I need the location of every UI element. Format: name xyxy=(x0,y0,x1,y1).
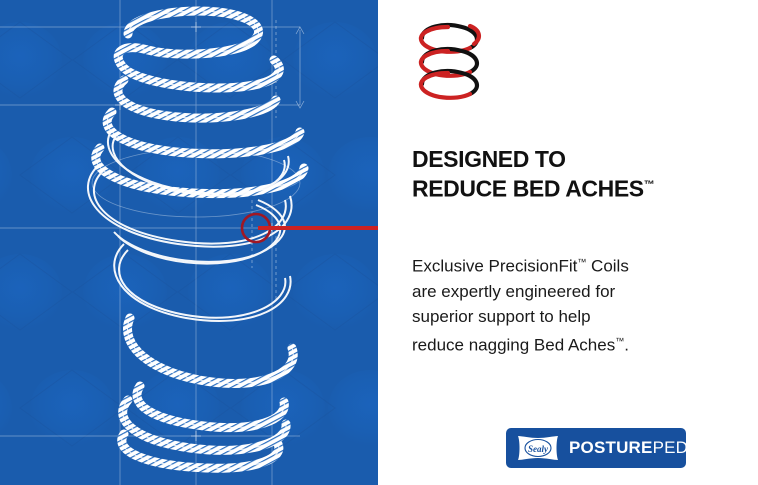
body-line-1-trademark: ™ xyxy=(577,257,586,267)
body-line-1-post: Coils xyxy=(586,257,629,276)
brand-registered: ® xyxy=(706,441,711,448)
blueprint-panel xyxy=(0,0,378,485)
brand-bold: POSTURE xyxy=(569,438,653,457)
sealy-wordmark: Sealy xyxy=(528,444,549,454)
headline-line-2: REDUCE BED ACHES™ xyxy=(412,172,742,202)
body-line-4: reduce nagging Bed Aches™. xyxy=(412,329,712,358)
red-circle-callout xyxy=(0,0,378,485)
body-copy: Exclusive PrecisionFit™ Coils are expert… xyxy=(412,250,712,357)
brand-logo-badge: Sealy POSTUREPEDIC® xyxy=(506,428,686,468)
body-line-2: are expertly engineered for xyxy=(412,279,712,304)
headline-line-2-text: REDUCE BED ACHES xyxy=(412,176,644,202)
headline-line-1: DESIGNED TO xyxy=(412,146,742,172)
body-line-4-trademark: ™ xyxy=(615,336,624,346)
coil-spring-icon xyxy=(408,18,496,100)
brand-light: PEDIC xyxy=(653,438,706,457)
sealy-logo-mark: Sealy xyxy=(515,435,561,461)
body-line-4-post: . xyxy=(624,335,629,354)
advertisement-banner: DESIGNED TO REDUCE BED ACHES™ Exclusive … xyxy=(0,0,758,485)
headline-trademark: ™ xyxy=(644,179,655,191)
content-panel: DESIGNED TO REDUCE BED ACHES™ Exclusive … xyxy=(378,0,758,485)
body-line-1-pre: Exclusive PrecisionFit xyxy=(412,257,577,276)
page-title: DESIGNED TO REDUCE BED ACHES™ xyxy=(412,146,742,202)
posturepedic-wordmark: POSTUREPEDIC® xyxy=(569,438,711,458)
body-line-3: superior support to help xyxy=(412,304,712,329)
body-line-4-pre: reduce nagging Bed Aches xyxy=(412,335,615,354)
body-line-1: Exclusive PrecisionFit™ Coils xyxy=(412,250,712,279)
